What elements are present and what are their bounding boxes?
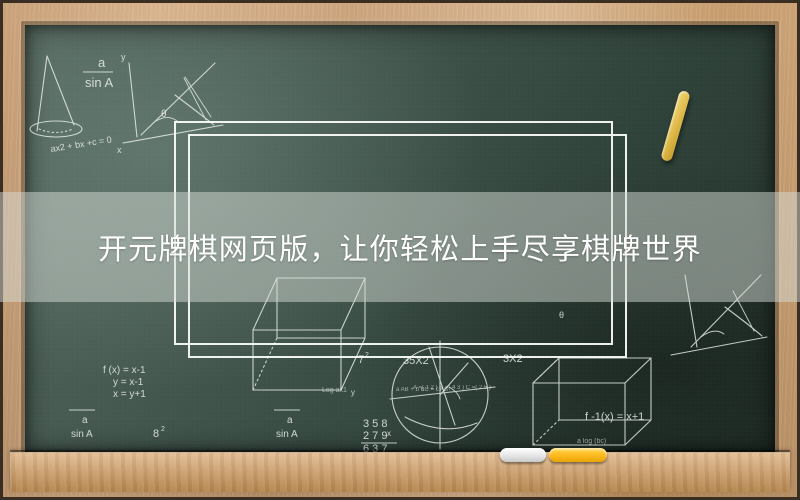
banner-title: 开元牌棋网页版，让你轻松上手尽享棋牌世界 bbox=[98, 226, 702, 268]
title-overlay-band: 开元牌棋网页版，让你轻松上手尽享棋牌世界 bbox=[0, 192, 800, 302]
banner-image: a sin A y x θ ax2 + bx +c = 0 f (x) = x-… bbox=[0, 0, 800, 500]
white-chalk bbox=[500, 448, 546, 462]
yellow-chalk bbox=[549, 448, 607, 462]
chalk-tray bbox=[10, 452, 790, 492]
